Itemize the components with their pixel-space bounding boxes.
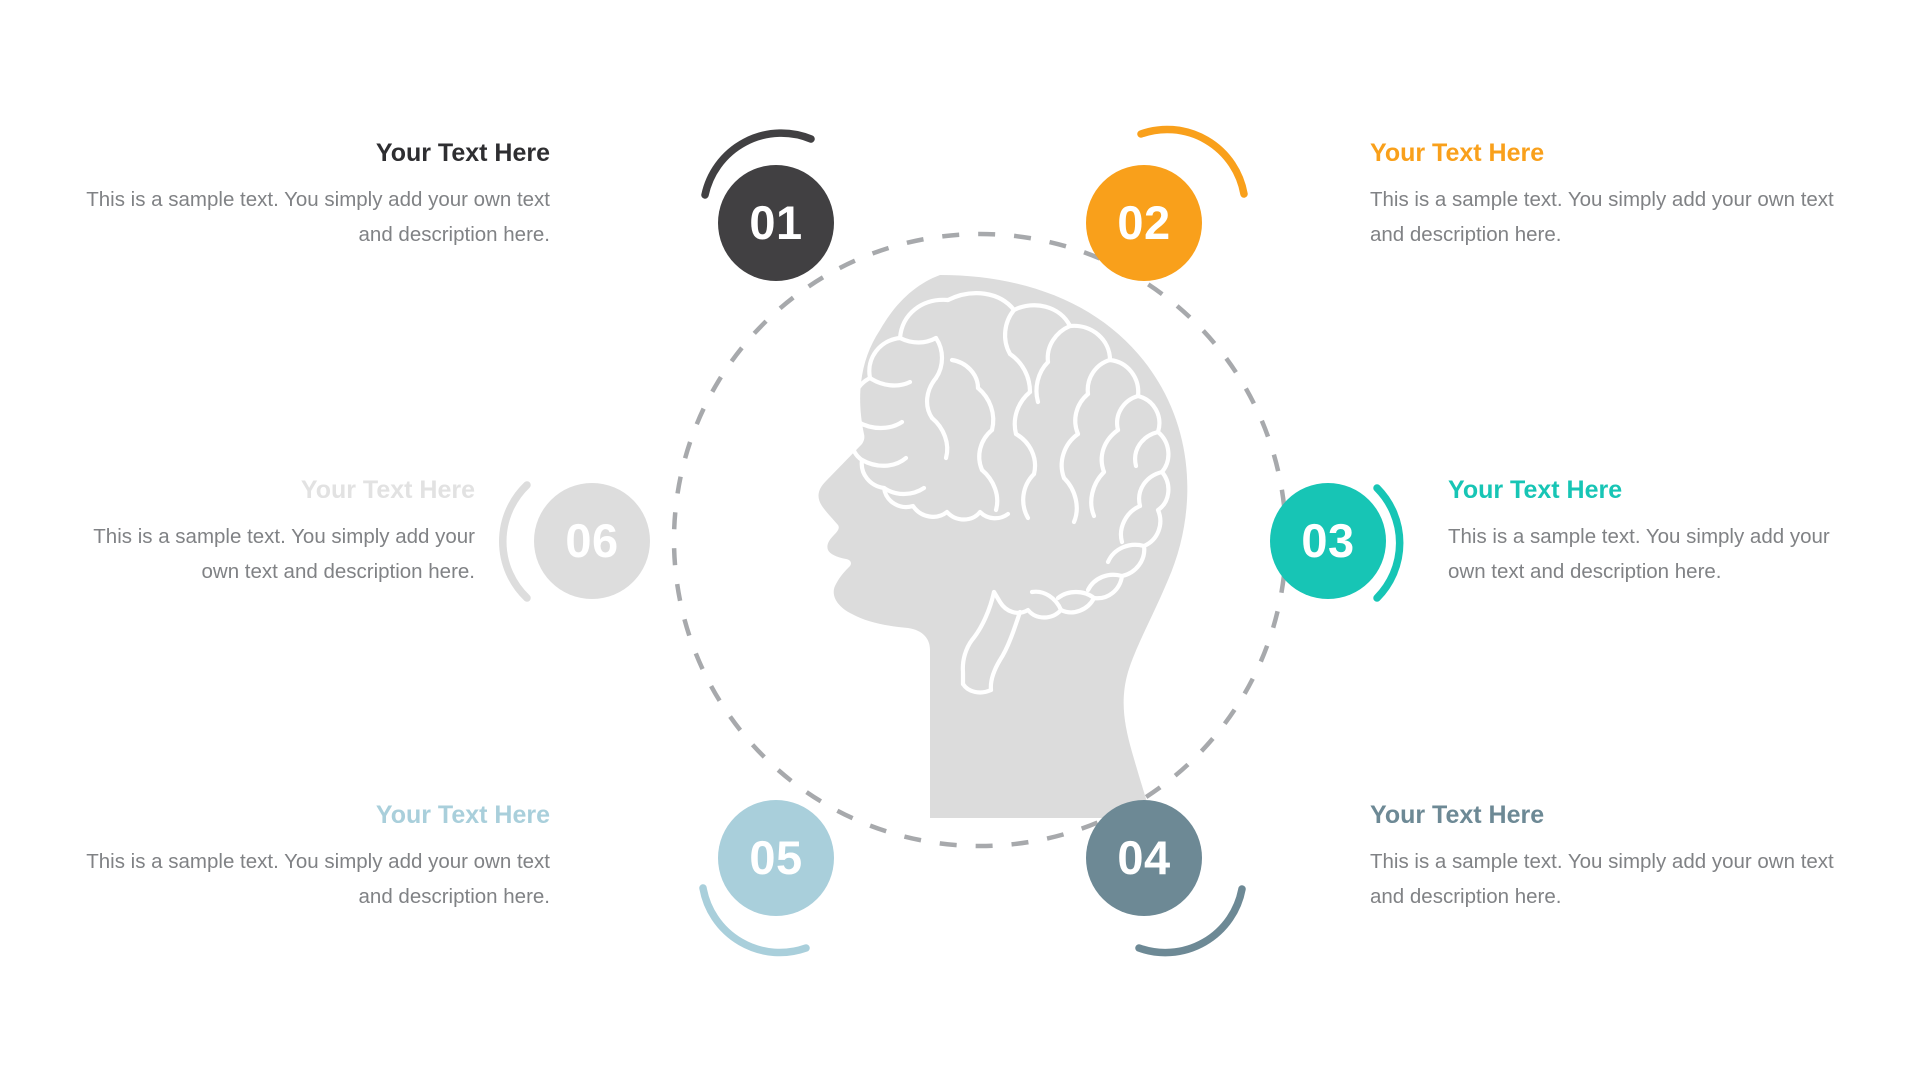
step-badge-02[interactable]: 02	[1086, 165, 1202, 281]
dashed-connector-ring	[674, 234, 1286, 846]
step-heading-05: Your Text Here	[80, 800, 550, 830]
step-text-block-05: Your Text Here This is a sample text. Yo…	[80, 800, 550, 915]
step-text-block-04: Your Text Here This is a sample text. Yo…	[1370, 800, 1840, 915]
step-number-02: 02	[1117, 199, 1170, 246]
step-number-06: 06	[565, 517, 618, 564]
head-silhouette	[819, 275, 1188, 818]
step-body-05: This is a sample text. You simply add yo…	[80, 844, 550, 915]
step-badge-03[interactable]: 03	[1270, 483, 1386, 599]
step-text-block-03: Your Text Here This is a sample text. Yo…	[1448, 475, 1863, 590]
step-body-03: This is a sample text. You simply add yo…	[1448, 519, 1863, 590]
step-badge-05[interactable]: 05	[718, 800, 834, 916]
step-body-02: This is a sample text. You simply add yo…	[1370, 182, 1840, 253]
step-badge-01[interactable]: 01	[718, 165, 834, 281]
step-body-01: This is a sample text. You simply add yo…	[80, 182, 550, 253]
step-heading-06: Your Text Here	[60, 475, 475, 505]
step-badge-04[interactable]: 04	[1086, 800, 1202, 916]
infographic-slide: 01 02 03 04 05 06 Your Text Here This is…	[0, 0, 1920, 1080]
step-heading-03: Your Text Here	[1448, 475, 1863, 505]
step-body-04: This is a sample text. You simply add yo…	[1370, 844, 1840, 915]
step-heading-02: Your Text Here	[1370, 138, 1840, 168]
step-number-04: 04	[1117, 834, 1170, 881]
step-text-block-01: Your Text Here This is a sample text. Yo…	[80, 138, 550, 253]
step-body-06: This is a sample text. You simply add yo…	[60, 519, 475, 590]
brain-outline-icon	[852, 293, 1169, 692]
step-text-block-02: Your Text Here This is a sample text. Yo…	[1370, 138, 1840, 253]
step-number-01: 01	[749, 199, 802, 246]
step-badge-06[interactable]: 06	[534, 483, 650, 599]
step-heading-01: Your Text Here	[80, 138, 550, 168]
step-heading-04: Your Text Here	[1370, 800, 1840, 830]
step-number-05: 05	[749, 834, 802, 881]
step-number-03: 03	[1301, 517, 1354, 564]
accent-arc-06	[503, 485, 527, 598]
step-text-block-06: Your Text Here This is a sample text. Yo…	[60, 475, 475, 590]
